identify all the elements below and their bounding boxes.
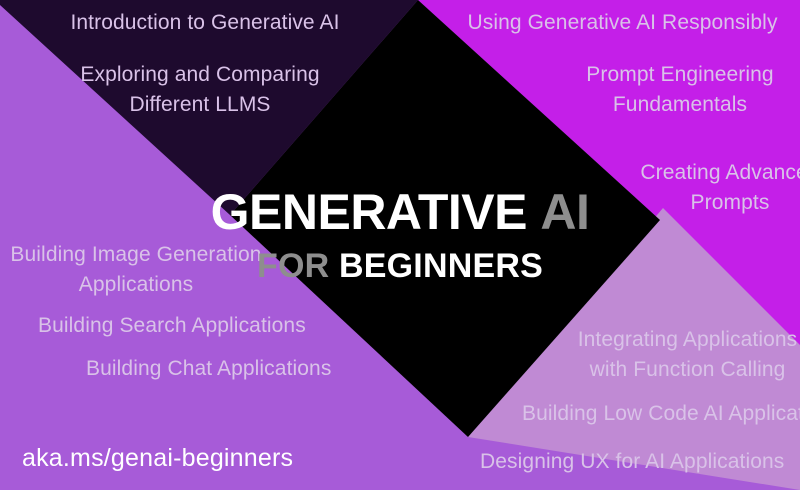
chapter-prompt-engineering-line1: Prompt Engineering bbox=[540, 60, 800, 90]
text-overlay: Introduction to Generative AI Exploring … bbox=[0, 0, 800, 490]
generative-ai-banner: Introduction to Generative AI Exploring … bbox=[0, 0, 800, 490]
chapter-exploring-llms-line2: Different LLMS bbox=[45, 90, 355, 120]
chapter-low-code: Building Low Code AI Applications bbox=[522, 399, 800, 429]
chapter-advanced-prompts-line1: Creating Advanced bbox=[600, 158, 800, 188]
chapter-function-calling: Integrating Applications with Function C… bbox=[555, 325, 800, 385]
chapter-prompt-engineering-line2: Fundamentals bbox=[540, 90, 800, 120]
chapter-image-generation: Building Image Generation Applications bbox=[0, 240, 272, 300]
chapter-prompt-engineering: Prompt Engineering Fundamentals bbox=[540, 60, 800, 120]
chapter-chat-applications: Building Chat Applications bbox=[86, 354, 376, 384]
chapter-exploring-llms: Exploring and Comparing Different LLMS bbox=[45, 60, 355, 120]
chapter-introduction: Introduction to Generative AI bbox=[55, 8, 355, 38]
chapter-function-calling-line2: with Function Calling bbox=[555, 355, 800, 385]
chapter-image-generation-line1: Building Image Generation bbox=[0, 240, 272, 270]
chapter-function-calling-line1: Integrating Applications bbox=[555, 325, 800, 355]
subtitle-beginners: BEGINNERS bbox=[339, 247, 543, 285]
chapter-advanced-prompts-line2: Prompts bbox=[600, 188, 800, 218]
chapter-image-generation-line2: Applications bbox=[0, 270, 272, 300]
title-ai: AI bbox=[540, 184, 589, 240]
chapter-advanced-prompts: Creating Advanced Prompts bbox=[600, 158, 800, 218]
short-url[interactable]: aka.ms/genai-beginners bbox=[22, 442, 293, 474]
chapter-exploring-llms-line1: Exploring and Comparing bbox=[45, 60, 355, 90]
chapter-search-applications: Building Search Applications bbox=[38, 311, 328, 341]
title-generative: GENERATIVE bbox=[211, 184, 527, 240]
chapter-responsible-ai: Using Generative AI Responsibly bbox=[460, 8, 785, 38]
chapter-designing-ux: Designing UX for AI Applications bbox=[480, 447, 800, 477]
